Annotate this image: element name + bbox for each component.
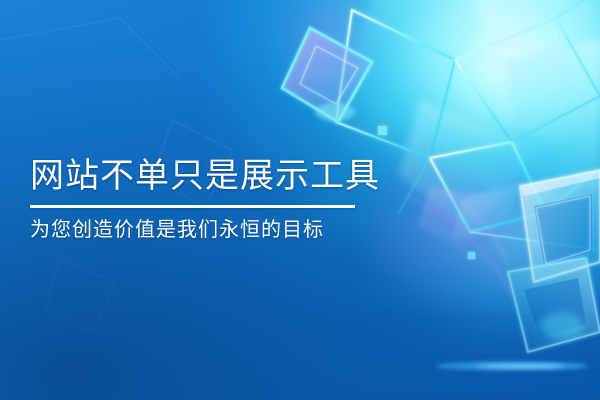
hero-banner: 网站不单只是展示工具 为您创造价值是我们永恒的目标: [0, 0, 600, 400]
hero-divider: [30, 205, 355, 208]
hero-subtitle: 为您创造价值是我们永恒的目标: [30, 216, 450, 242]
hero-content: 网站不单只是展示工具 为您创造价值是我们永恒的目标: [30, 157, 450, 242]
hero-title: 网站不单只是展示工具: [30, 157, 450, 196]
